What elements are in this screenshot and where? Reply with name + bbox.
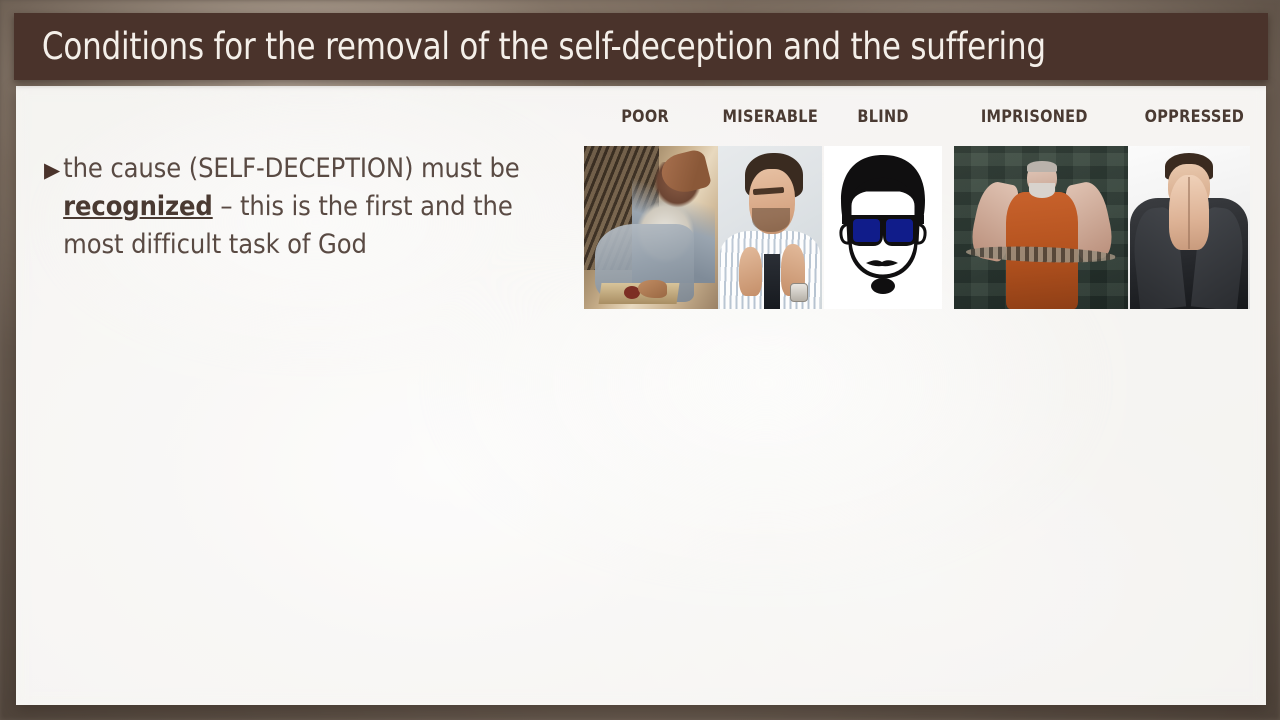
slide-body-text: ▶ the cause (SELF-DECEPTION) must be rec… bbox=[44, 150, 544, 264]
slide-title: Conditions for the removal of the self-d… bbox=[14, 28, 1046, 65]
blind-face-illustration bbox=[824, 146, 942, 309]
presentation-slide: Conditions for the removal of the self-d… bbox=[0, 0, 1280, 720]
gallery-image-oppressed bbox=[1128, 146, 1250, 309]
poor-bare-foot bbox=[638, 280, 667, 298]
gallery-label-row: POOR MISERABLE BLIND IMPRISONED OPPRESSE… bbox=[568, 107, 1266, 135]
gallery-image-strip bbox=[568, 146, 1266, 311]
gallery-label-oppressed: OPPRESSED bbox=[1145, 107, 1245, 127]
miserable-left-hand bbox=[739, 247, 762, 296]
bullet-emphasis-recognized: recognized bbox=[63, 191, 213, 222]
imprisoned-hair bbox=[1027, 161, 1057, 172]
slide-content-card: ▶ the cause (SELF-DECEPTION) must be rec… bbox=[16, 86, 1266, 705]
gallery-image-blind bbox=[824, 146, 942, 309]
oppressed-hand-seam bbox=[1188, 177, 1190, 249]
gallery-label-miserable: MISERABLE bbox=[723, 107, 819, 127]
gallery-image-poor bbox=[584, 146, 718, 309]
bullet-line-2: – this is the first and the bbox=[213, 191, 513, 222]
slide-title-bar: Conditions for the removal of the self-d… bbox=[14, 13, 1268, 80]
gallery-label-blind: BLIND bbox=[857, 107, 908, 127]
bullet-paragraph: the cause (SELF-DECEPTION) must be recog… bbox=[63, 150, 544, 264]
bullet-item: ▶ the cause (SELF-DECEPTION) must be rec… bbox=[44, 150, 544, 264]
bullet-triangle-icon: ▶ bbox=[44, 160, 60, 181]
miserable-tie bbox=[764, 254, 781, 309]
bullet-line-1: the cause (SELF-DECEPTION) must be bbox=[63, 153, 519, 184]
gallery-image-imprisoned bbox=[954, 146, 1128, 309]
gallery-label-poor: POOR bbox=[621, 107, 669, 127]
gallery-image-miserable bbox=[718, 146, 822, 309]
miserable-wristwatch bbox=[790, 283, 809, 303]
bullet-line-3: most difficult task of God bbox=[63, 229, 367, 260]
imprisoned-beard bbox=[1029, 183, 1055, 198]
gallery-label-imprisoned: IMPRISONED bbox=[981, 107, 1088, 127]
